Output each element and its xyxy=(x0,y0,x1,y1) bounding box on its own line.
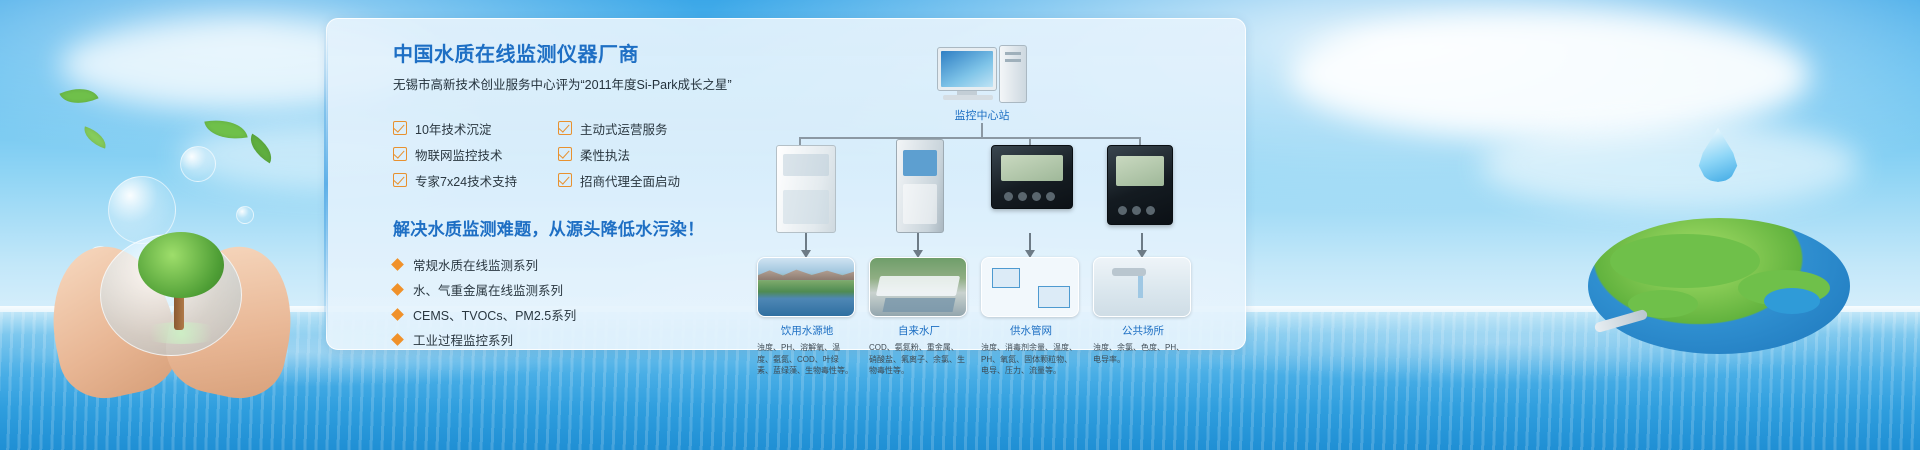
device-rack-analyzer xyxy=(877,139,963,233)
checkbox-icon xyxy=(393,147,407,161)
monitor-icon xyxy=(937,47,997,91)
list-item[interactable]: 常规水质在线监测系列 xyxy=(393,252,773,277)
feature-item[interactable]: 主动式运营服务 xyxy=(558,115,723,141)
scenario-card[interactable]: 供水管网 浊度、消毒剂余量、温度、PH、氧氮、固体颗粒物、电导、压力、流量等。 xyxy=(981,257,1081,377)
feature-item[interactable]: 物联网监控技术 xyxy=(393,141,558,167)
page-subtitle: 无锡市高新技术创业服务中心评为“2011年度Si-Park成长之星” xyxy=(393,77,773,93)
river-landscape-photo xyxy=(757,257,855,317)
left-content-column: 中国水质在线监测仪器厂商 无锡市高新技术创业服务中心评为“2011年度Si-Pa… xyxy=(393,43,773,352)
cabinet-analyzer-icon xyxy=(776,145,836,233)
feature-label: 专家7x24技术支持 xyxy=(415,171,517,190)
feature-list: 10年技术沉淀 主动式运营服务 物联网监控技术 柔性执法 专家7x24技术支持 … xyxy=(393,115,723,193)
diamond-bullet-icon xyxy=(391,258,404,271)
series-label: 水、气重金属在线监测系列 xyxy=(413,280,563,299)
scenario-title: 供水管网 xyxy=(981,323,1081,338)
section-heading: 解决水质监测难题，从源头降低水污染！ xyxy=(393,215,773,240)
monitoring-center-label: 监控中心站 xyxy=(907,107,1057,123)
diagram-connector xyxy=(799,137,1139,139)
earth-landmass xyxy=(1610,234,1760,288)
controller-display-icon xyxy=(991,145,1073,209)
faucet-photo xyxy=(1093,257,1191,317)
series-label: 工业过程监控系列 xyxy=(413,330,513,349)
product-series-list: 常规水质在线监测系列 水、气重金属在线监测系列 CEMS、TVOCs、PM2.5… xyxy=(393,252,773,352)
feature-label: 柔性执法 xyxy=(580,145,630,164)
earth-lake xyxy=(1764,288,1820,314)
pipe-diagram-icon xyxy=(981,257,1079,317)
feature-item[interactable]: 10年技术沉淀 xyxy=(393,115,558,141)
device-cabinet-analyzer xyxy=(763,145,849,233)
scenario-description: 浊度、消毒剂余量、温度、PH、氧氮、固体颗粒物、电导、压力、流量等。 xyxy=(981,342,1077,377)
monitor-screen xyxy=(941,51,993,87)
list-item[interactable]: 水、气重金属在线监测系列 xyxy=(393,277,773,302)
down-arrow-icon xyxy=(917,233,919,251)
checkbox-icon xyxy=(393,173,407,187)
feature-item[interactable]: 专家7x24技术支持 xyxy=(393,167,558,193)
cloud-decoration xyxy=(1480,120,1860,210)
scenario-card[interactable]: 公共场所 浊度、余氯、色度、PH、电导率。 xyxy=(1093,257,1193,365)
controller-display-icon xyxy=(1107,145,1173,225)
green-earth-illustration xyxy=(1588,218,1850,354)
list-item[interactable]: 工业过程监控系列 xyxy=(393,327,773,352)
down-arrow-icon xyxy=(1141,233,1143,251)
monitor-base xyxy=(943,95,993,100)
checkbox-icon xyxy=(558,173,572,187)
hands-holding-tree-illustration xyxy=(52,226,292,396)
feature-item[interactable]: 招商代理全面启动 xyxy=(558,167,723,193)
feature-label: 招商代理全面启动 xyxy=(580,171,680,190)
page-title: 中国水质在线监测仪器厂商 xyxy=(393,43,773,67)
series-label: 常规水质在线监测系列 xyxy=(413,255,538,274)
bubble-decoration xyxy=(180,146,216,182)
rack-analyzer-icon xyxy=(896,139,944,233)
cloud-decoration xyxy=(1290,10,1810,140)
down-arrow-icon xyxy=(1029,233,1031,251)
scenario-description: 浊度、PH、溶解氧、温度、氨氮、COD、叶绿素、蓝绿藻、生物毒性等。 xyxy=(757,342,853,377)
checkbox-icon xyxy=(558,121,572,135)
server-tower-icon xyxy=(999,45,1027,103)
checkbox-icon xyxy=(558,147,572,161)
lcd-screen xyxy=(1001,155,1063,181)
tree-crown xyxy=(138,232,224,298)
device-controller-2 xyxy=(1097,145,1183,225)
scenario-description: COD、氨氮粉、重金属、硝酸盐、氟离子、余氯、生物毒性等。 xyxy=(869,342,965,377)
feature-label: 物联网监控技术 xyxy=(415,145,503,164)
system-diagram: 监控中心站 xyxy=(757,33,1227,343)
diamond-bullet-icon xyxy=(391,333,404,346)
diamond-bullet-icon xyxy=(391,283,404,296)
scenario-card[interactable]: 自来水厂 COD、氨氮粉、重金属、硝酸盐、氟离子、余氯、生物毒性等。 xyxy=(869,257,969,377)
scenario-description: 浊度、余氯、色度、PH、电导率。 xyxy=(1093,342,1189,365)
list-item[interactable]: CEMS、TVOCs、PM2.5系列 xyxy=(393,302,773,327)
bubble-decoration xyxy=(236,206,254,224)
scenario-title: 饮用水源地 xyxy=(757,323,857,338)
lcd-screen xyxy=(1116,156,1164,186)
feature-label: 10年技术沉淀 xyxy=(415,119,491,138)
series-label: CEMS、TVOCs、PM2.5系列 xyxy=(413,305,576,324)
banner-card: 中国水质在线监测仪器厂商 无锡市高新技术创业服务中心评为“2011年度Si-Pa… xyxy=(326,18,1246,350)
diamond-bullet-icon xyxy=(391,308,404,321)
feature-label: 主动式运营服务 xyxy=(580,119,668,138)
device-controller-1 xyxy=(989,145,1075,209)
computer-server-icon xyxy=(937,47,1029,103)
scenario-title: 自来水厂 xyxy=(869,323,969,338)
water-plant-photo xyxy=(869,257,967,317)
controller-buttons xyxy=(1118,206,1155,215)
controller-buttons xyxy=(1004,192,1055,201)
feature-item[interactable]: 柔性执法 xyxy=(558,141,723,167)
scenario-card[interactable]: 饮用水源地 浊度、PH、溶解氧、温度、氨氮、COD、叶绿素、蓝绿藻、生物毒性等。 xyxy=(757,257,857,377)
diagram-connector xyxy=(981,123,983,137)
scenario-title: 公共场所 xyxy=(1093,323,1193,338)
checkbox-icon xyxy=(393,121,407,135)
down-arrow-icon xyxy=(805,233,807,251)
